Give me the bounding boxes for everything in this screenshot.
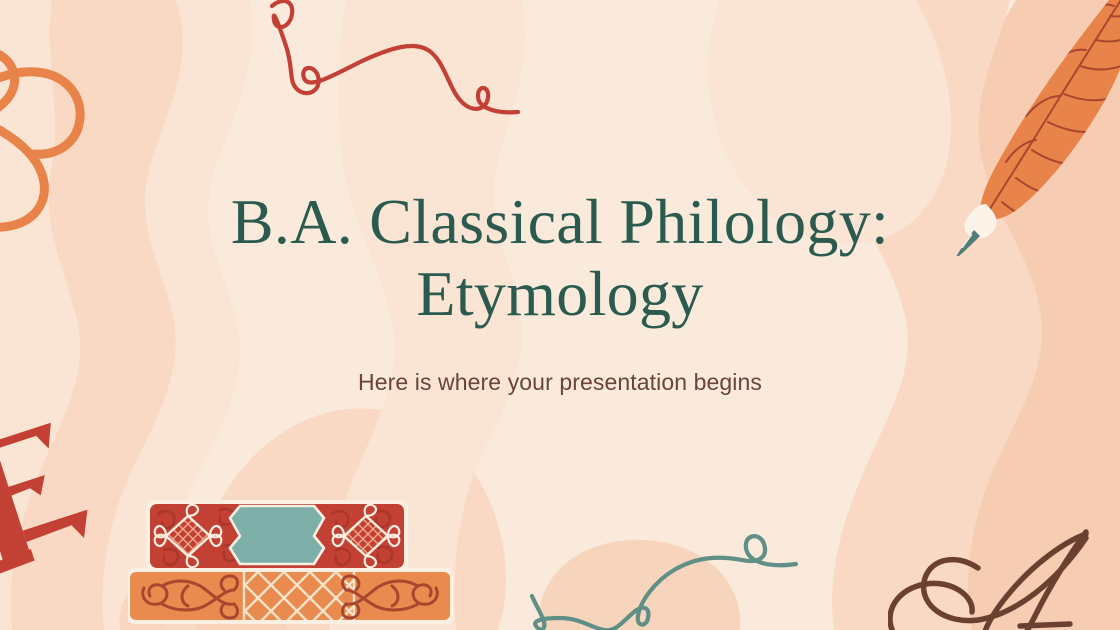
book-stack-icon — [128, 494, 476, 630]
squiggle-teal-ornament — [506, 526, 814, 630]
title-block: B.A. Classical Philology: Etymology Here… — [0, 186, 1120, 396]
book-bottom-orange — [128, 568, 454, 624]
book-top-red — [146, 500, 408, 572]
letter-e-icon — [0, 398, 96, 578]
letter-e-ornament — [0, 398, 96, 578]
book-red-title-label — [230, 506, 324, 564]
blob-bottom-left — [119, 559, 286, 630]
squiggle-teal-icon — [506, 526, 814, 630]
letter-a-ornament — [888, 508, 1120, 630]
letter-a-icon — [888, 508, 1120, 630]
book-orange-centre-panel — [244, 572, 354, 620]
squiggle-red-icon — [248, 0, 544, 146]
blob-bottom-centre — [539, 540, 740, 630]
book-orange-right-swirl — [343, 576, 438, 618]
book-red-right-medallion — [333, 505, 400, 568]
book-red-left-medallion — [155, 505, 222, 568]
book-red-swirl-texture — [158, 509, 392, 565]
slide-title: B.A. Classical Philology: Etymology — [0, 186, 1120, 329]
decorative-book-stack — [128, 494, 476, 630]
book-orange-left-swirl — [143, 576, 238, 618]
blob-centre-light — [195, 409, 506, 630]
slide-subtitle: Here is where your presentation begins — [0, 369, 1120, 396]
presentation-slide: B.A. Classical Philology: Etymology Here… — [0, 0, 1120, 630]
squiggle-red-ornament — [248, 0, 544, 146]
